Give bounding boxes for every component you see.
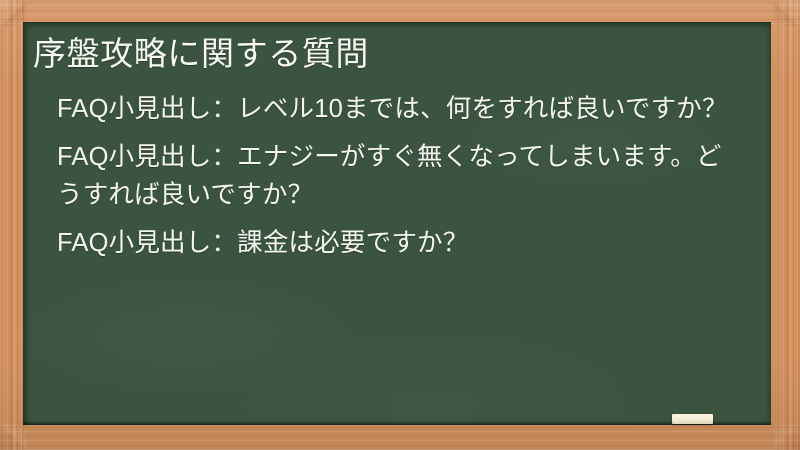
chalkboard-surface: 序盤攻略に関する質問 FAQ小見出し：レベル10までは、何をすれば良いですか？ … bbox=[23, 22, 771, 425]
chalkboard-slide: 序盤攻略に関する質問 FAQ小見出し：レベル10までは、何をすれば良いですか？ … bbox=[0, 0, 800, 450]
frame-bottom-rail bbox=[0, 426, 800, 450]
frame-top-rail bbox=[0, 0, 800, 24]
frame-right-rail bbox=[776, 0, 800, 450]
list-item: FAQ小見出し：レベル10までは、何をすれば良いですか？ bbox=[57, 91, 729, 128]
list-item: FAQ小見出し：課金は必要ですか？ bbox=[57, 225, 729, 262]
list-item: FAQ小見出し：エナジーがすぐ無くなってしまいます。どうすれば良いですか？ bbox=[57, 139, 729, 214]
faq-question-list: FAQ小見出し：レベル10までは、何をすれば良いですか？ FAQ小見出し：エナジ… bbox=[33, 91, 749, 263]
chalk-stick-icon bbox=[672, 414, 713, 424]
frame-left-rail bbox=[0, 0, 24, 450]
page-title: 序盤攻略に関する質問 bbox=[33, 33, 749, 75]
board-content: 序盤攻略に関する質問 FAQ小見出し：レベル10までは、何をすれば良いですか？ … bbox=[23, 22, 771, 425]
